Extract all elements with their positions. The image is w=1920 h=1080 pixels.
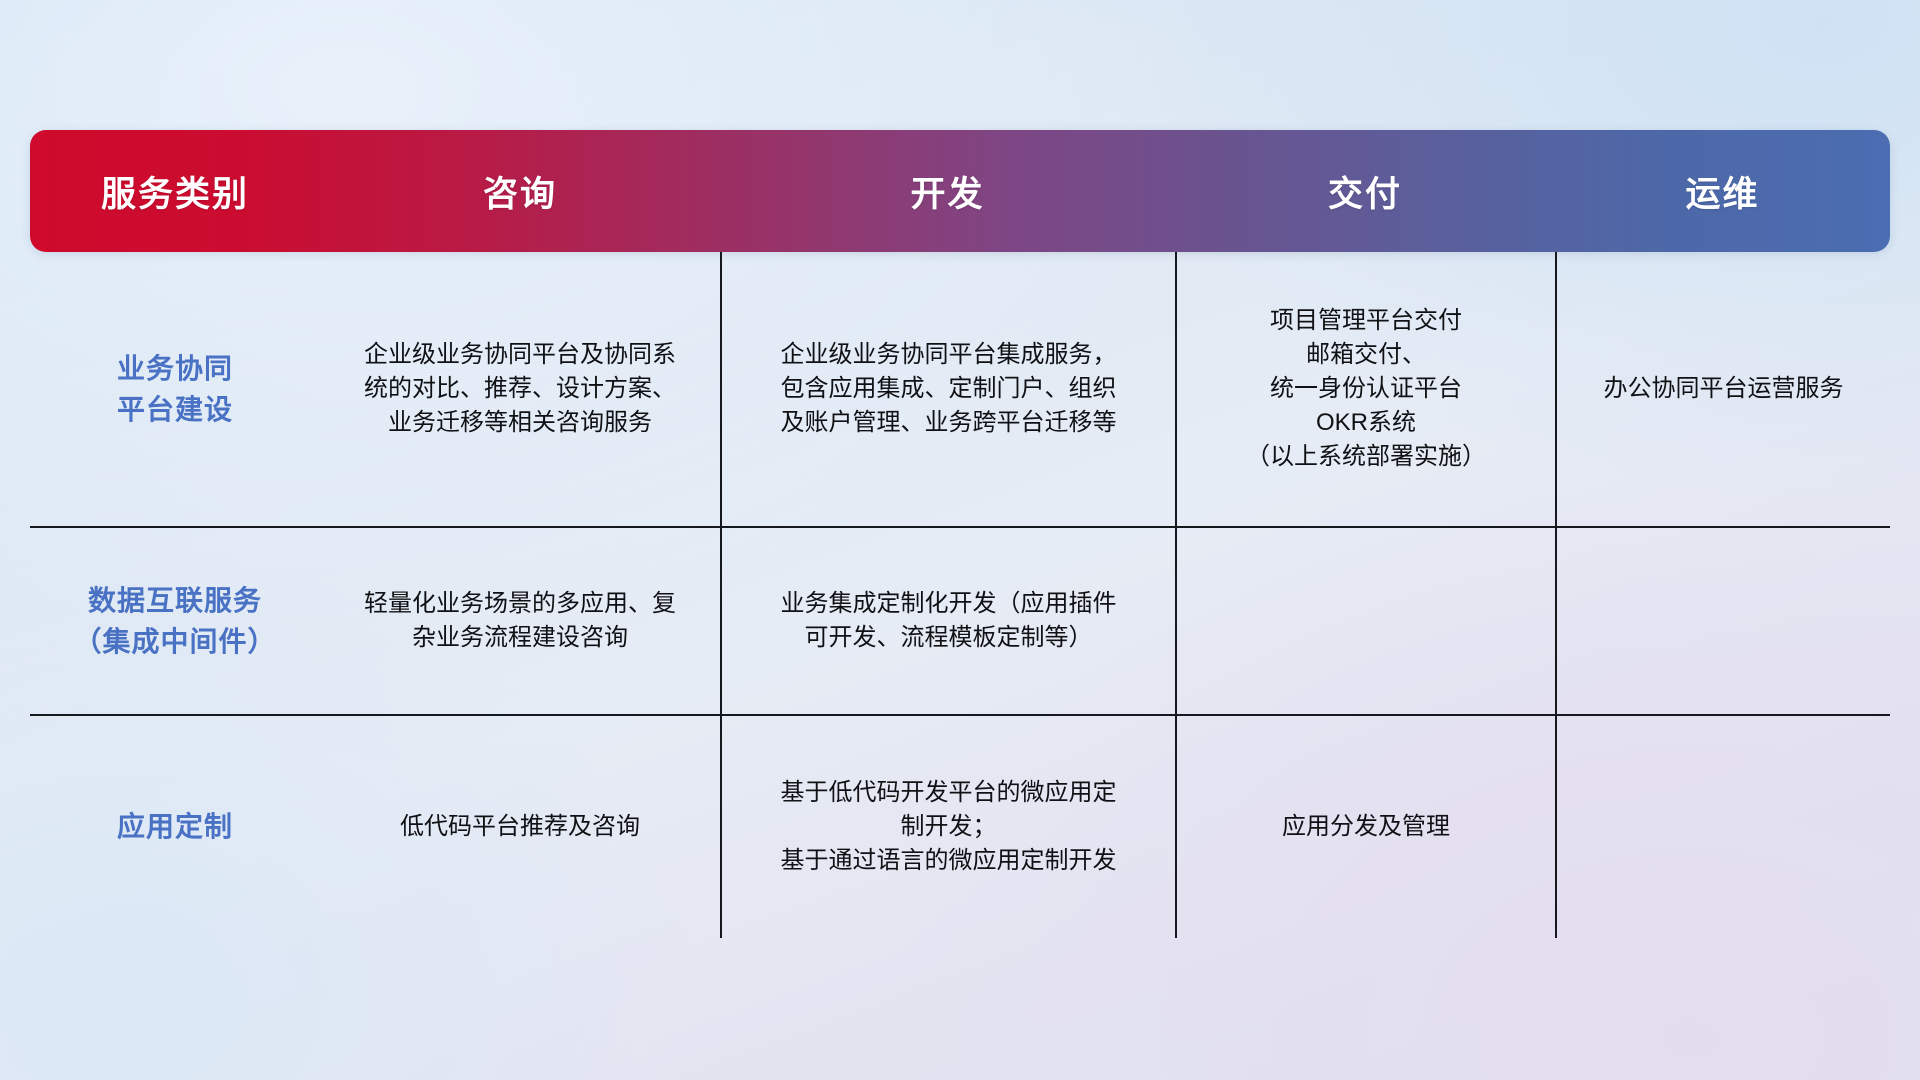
cell-consulting: 低代码平台推荐及咨询 (320, 716, 720, 938)
cell-delivery: 应用分发及管理 (1175, 716, 1555, 938)
cell-consulting: 轻量化业务场景的多应用、复 杂业务流程建设咨询 (320, 528, 720, 714)
cell-consulting: 企业级业务协同平台及协同系 统的对比、推荐、设计方案、 业务迁移等相关咨询服务 (320, 252, 720, 526)
cell-development: 业务集成定制化开发（应用插件 可开发、流程模板定制等） (720, 528, 1175, 714)
row-category-label: 应用定制 (30, 716, 320, 938)
row-category-label: 数据互联服务 （集成中间件） (30, 528, 320, 714)
table-row: 业务协同 平台建设 企业级业务协同平台及协同系 统的对比、推荐、设计方案、 业务… (30, 252, 1890, 528)
table-header-consulting: 咨询 (320, 130, 720, 252)
table-row: 应用定制 低代码平台推荐及咨询 基于低代码开发平台的微应用定 制开发； 基于通过… (30, 716, 1890, 938)
table-body: 业务协同 平台建设 企业级业务协同平台及协同系 统的对比、推荐、设计方案、 业务… (30, 252, 1890, 938)
cell-operations (1555, 528, 1890, 714)
table-header-delivery: 交付 (1175, 130, 1555, 252)
cell-operations: 办公协同平台运营服务 (1555, 252, 1890, 526)
cell-development: 企业级业务协同平台集成服务， 包含应用集成、定制门户、组织 及账户管理、业务跨平… (720, 252, 1175, 526)
table-header-operations: 运维 (1555, 130, 1890, 252)
slide-canvas: 服务类别 咨询 开发 交付 运维 业务协同 平台建设 企业级业务协同平台及协同系… (0, 0, 1920, 1080)
cell-delivery (1175, 528, 1555, 714)
table-row: 数据互联服务 （集成中间件） 轻量化业务场景的多应用、复 杂业务流程建设咨询 业… (30, 528, 1890, 716)
cell-operations (1555, 716, 1890, 938)
service-matrix-table: 服务类别 咨询 开发 交付 运维 业务协同 平台建设 企业级业务协同平台及协同系… (30, 130, 1890, 950)
table-header-service-category: 服务类别 (30, 130, 320, 252)
cell-development: 基于低代码开发平台的微应用定 制开发； 基于通过语言的微应用定制开发 (720, 716, 1175, 938)
table-header-row: 服务类别 咨询 开发 交付 运维 (30, 130, 1890, 252)
row-category-label: 业务协同 平台建设 (30, 252, 320, 526)
cell-delivery: 项目管理平台交付 邮箱交付、 统一身份认证平台 OKR系统 （以上系统部署实施） (1175, 252, 1555, 526)
table-header-development: 开发 (720, 130, 1175, 252)
